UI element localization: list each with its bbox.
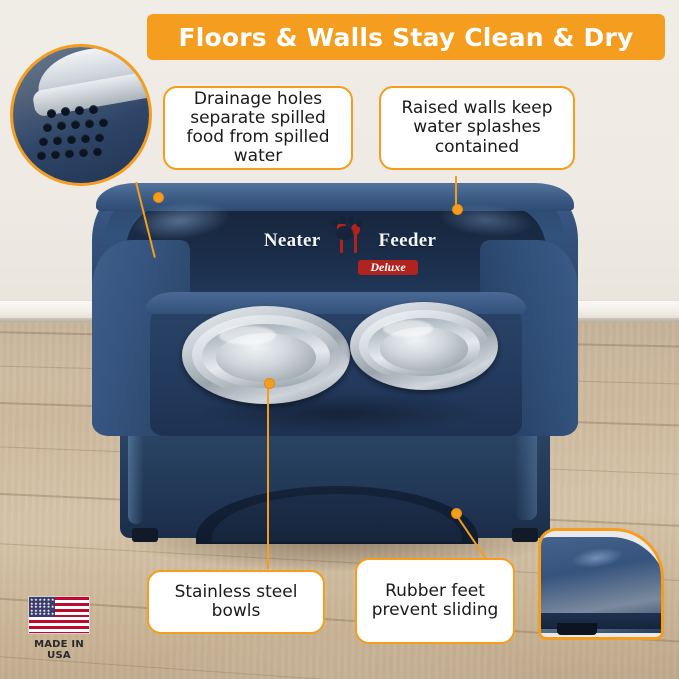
- leader-dot-drainage: [153, 192, 164, 203]
- leader-dot-rubber-feet: [451, 508, 462, 519]
- callout-drainage-holes-text: Drainage holes separate spilled food fro…: [175, 90, 341, 167]
- leader-dot-bowls: [264, 378, 275, 389]
- callout-raised-walls-text: Raised walls keep water splashes contain…: [391, 99, 563, 157]
- brand-logo: Neater Feeder Deluxe: [240, 224, 460, 268]
- callout-drainage-holes: Drainage holes separate spilled food fro…: [163, 86, 353, 170]
- rubber-foot-right: [512, 528, 538, 542]
- brand-word-feeder: Feeder: [378, 230, 436, 252]
- brand-tier-badge: Deluxe: [358, 260, 417, 275]
- flag-stars: ★★★★★★ ★★★★★ ★★★★★★ ★★★★★ ★★★★★★ ★★★★★: [30, 598, 54, 616]
- headline-text: Floors & Walls Stay Clean & Dry: [178, 23, 633, 52]
- rubber-foot-left: [132, 528, 158, 542]
- callout-rubber-feet-text: Rubber feet prevent sliding: [367, 582, 503, 620]
- callout-stainless-bowls-text: Stainless steel bowls: [159, 583, 313, 621]
- stainless-bowl-left: [182, 306, 350, 404]
- product-infographic: Neater Feeder Deluxe: [0, 0, 679, 679]
- callout-raised-walls: Raised walls keep water splashes contain…: [379, 86, 575, 170]
- leader-dot-raised-walls: [452, 204, 463, 215]
- made-in-usa-label: MADE IN USA: [22, 639, 96, 661]
- usa-flag-icon: ★★★★★★ ★★★★★ ★★★★★★ ★★★★★ ★★★★★★ ★★★★★: [28, 596, 90, 634]
- callout-stainless-bowls: Stainless steel bowls: [147, 570, 325, 634]
- rubber-foot-closeup: [538, 528, 664, 640]
- headline-banner: Floors & Walls Stay Clean & Dry: [147, 14, 665, 60]
- paw-fork-spoon-icon: [324, 224, 374, 258]
- leader-line-bowls: [267, 383, 269, 569]
- made-in-usa-badge: ★★★★★★ ★★★★★ ★★★★★★ ★★★★★ ★★★★★★ ★★★★★ M…: [22, 596, 96, 661]
- brand-word-neater: Neater: [264, 230, 321, 252]
- drainage-holes-closeup: [10, 44, 152, 186]
- callout-rubber-feet: Rubber feet prevent sliding: [355, 558, 515, 644]
- base-highlight-left: [128, 424, 144, 524]
- stainless-bowl-right: [350, 302, 498, 390]
